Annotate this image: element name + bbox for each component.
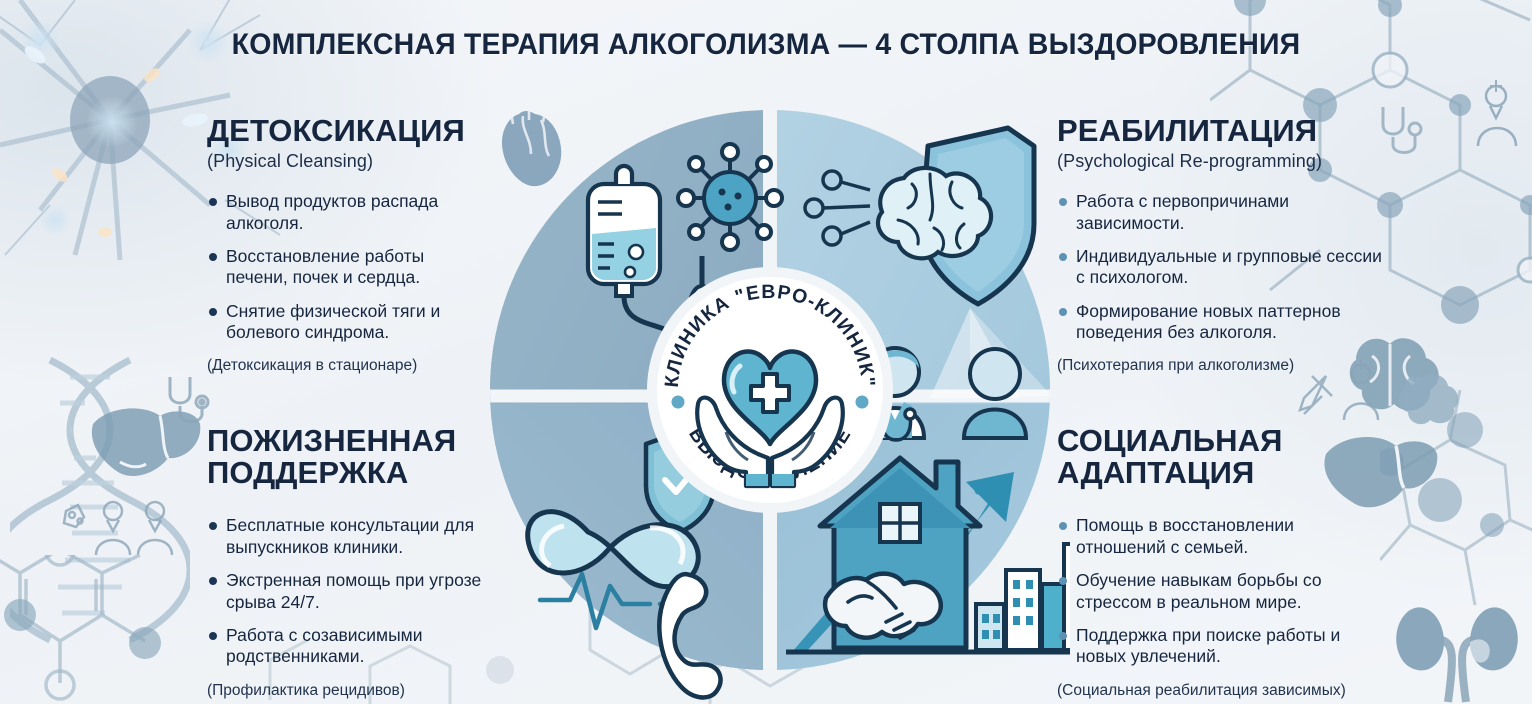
- molecule-hexagon-lattice: [0, 555, 210, 704]
- brain-icon: [1392, 370, 1462, 430]
- dna-helix-icon: [10, 355, 190, 645]
- section-note: (Социальная реабилитация зависимых): [1057, 682, 1387, 700]
- section-note: (Профилактика рецидивов): [207, 682, 517, 700]
- kidneys-icon: [1392, 598, 1522, 704]
- page-title: КОМПЛЕКСНАЯ ТЕРАПИЯ АЛКОГОЛИЗМА — 4 СТОЛ…: [38, 28, 1493, 62]
- badge-dot-left: [672, 396, 685, 409]
- list-item: Формирование новых паттернов поведения б…: [1057, 301, 1387, 344]
- section-subheading: (Psychological Re-programming): [1057, 151, 1387, 172]
- molecule-hexagon-lattice: [1380, 390, 1532, 650]
- section-detox: ДЕТОКСИКАЦИЯ (Physical Cleansing) Вывод …: [207, 115, 487, 375]
- section-heading: ПОЖИЗНЕННАЯ ПОДДЕРЖКА: [207, 425, 517, 489]
- doctor-figures-icon: [1470, 80, 1532, 150]
- center-badge: КЛИНИКА "ЕВРО-КЛИНИК" ВЫЗДОРОВЛЕНИЕ: [647, 267, 893, 513]
- section-note: (Психотерапия при алкоголизме): [1057, 357, 1387, 375]
- list-item: Экстренная помощь при угрозе срыва 24/7.: [207, 570, 517, 613]
- infographic-canvas: КОМПЛЕКСНАЯ ТЕРАПИЯ АЛКОГОЛИЗМА — 4 СТОЛ…: [0, 0, 1532, 704]
- section-rehabilitation: РЕАБИЛИТАЦИЯ (Psychological Re-programmi…: [1057, 115, 1387, 375]
- section-subheading: (Physical Cleansing): [207, 151, 487, 172]
- section-lifelong-support: ПОЖИЗНЕННАЯ ПОДДЕРЖКА Бесплатные консуль…: [207, 425, 517, 700]
- stethoscope-icon: [160, 372, 218, 430]
- list-item: Восстановление работы печени, почек и се…: [207, 246, 487, 289]
- doctor-figures-icon: [58, 497, 193, 557]
- list-item: Бесплатные консультации для выпускников …: [207, 515, 517, 558]
- list-item: Работа с созависимыми родственниками.: [207, 625, 517, 668]
- liver-icon: [88, 402, 203, 494]
- list-item: Обучение навыкам борьбы со стрессом в ре…: [1057, 570, 1387, 613]
- syringe-icon: [1296, 368, 1338, 424]
- list-item: Вывод продуктов распада алкоголя.: [207, 191, 487, 234]
- section-bullet-list: Работа с первопричинами зависимости. Инд…: [1057, 191, 1387, 343]
- list-item: Снятие физической тяги и болевого синдро…: [207, 301, 487, 344]
- section-heading: РЕАБИЛИТАЦИЯ: [1057, 115, 1387, 147]
- section-note: (Детоксикация в стационаре): [207, 357, 487, 375]
- list-item: Поддержка при поиске работы и новых увле…: [1057, 625, 1387, 668]
- section-bullet-list: Вывод продуктов распада алкоголя. Восста…: [207, 191, 487, 343]
- section-bullet-list: Бесплатные консультации для выпускников …: [207, 515, 517, 667]
- section-heading: СОЦИАЛЬНАЯ АДАПТАЦИЯ: [1057, 425, 1387, 489]
- list-item: Помощь в восстановлении отношений с семь…: [1057, 515, 1387, 558]
- badge-dot-right: [856, 396, 869, 409]
- section-heading: ДЕТОКСИКАЦИЯ: [207, 115, 487, 147]
- section-social-adaptation: СОЦИАЛЬНАЯ АДАПТАЦИЯ Помощь в восстановл…: [1057, 425, 1387, 700]
- four-pillar-wheel: КЛИНИКА "ЕВРО-КЛИНИК" ВЫЗДОРОВЛЕНИЕ: [470, 80, 1070, 700]
- section-bullet-list: Помощь в восстановлении отношений с семь…: [1057, 515, 1387, 667]
- list-item: Индивидуальные и групповые сессии с псих…: [1057, 246, 1387, 289]
- list-item: Работа с первопричинами зависимости.: [1057, 191, 1387, 234]
